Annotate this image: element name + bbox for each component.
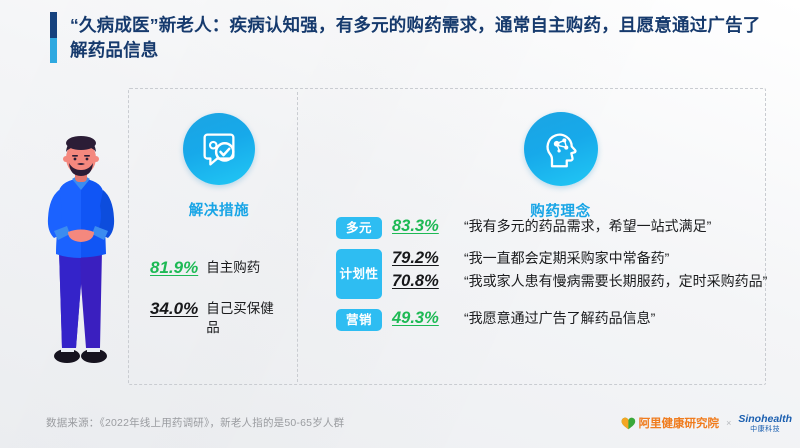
footer-logos: 阿里健康研究院 × Sinohealth 中康科技 xyxy=(621,414,792,433)
left-stat-value: 34.0% xyxy=(150,299,198,318)
concept-quote: “我愿意通过广告了解药品信息” xyxy=(464,308,788,329)
standing-man-illustration xyxy=(32,132,128,367)
data-source-note: 数据来源：《2022年线上用药调研》，新老人指的是50-65岁人群 xyxy=(46,415,344,430)
left-panel-label: 解决措施 xyxy=(174,199,264,220)
concept-value: 70.8% xyxy=(392,271,458,292)
right-rows-list: 多元 83.3% “我有多元的药品需求，希望一站式满足” 计划性 79.2% “… xyxy=(336,216,788,340)
concept-quote: “我或家人患有慢病需要长期服药，定时采购药品” xyxy=(464,271,788,292)
alihealth-logo: 阿里健康研究院 xyxy=(621,415,720,431)
slide-root: “久病成医”新老人：疾病认知强，有多元的购药需求，通常自主购药，且愿意通过广告了… xyxy=(0,0,800,448)
concept-row: 计划性 79.2% “我一直都会定期采购家中常备药” 70.8% “我或家人患有… xyxy=(336,248,788,299)
concept-quote: “我一直都会定期采购家中常备药” xyxy=(464,248,788,269)
concept-value: 79.2% xyxy=(392,248,458,269)
concept-tag: 多元 xyxy=(336,217,382,239)
left-stat-row: 34.0% 自己买保健品 xyxy=(150,299,300,337)
heart-check-icon xyxy=(621,417,636,430)
left-stat-label: 自主购药 xyxy=(206,258,278,277)
concept-line: 79.2% “我一直都会定期采购家中常备药” xyxy=(392,248,788,269)
concept-value: 83.3% xyxy=(392,216,458,237)
left-stat-value: 81.9% xyxy=(150,258,198,277)
right-panel-header: 购药理念 xyxy=(508,112,613,221)
concept-value: 49.3% xyxy=(392,308,458,329)
left-stat-label: 自己买保健品 xyxy=(206,299,278,337)
concept-line: 49.3% “我愿意通过广告了解药品信息” xyxy=(392,308,788,329)
concept-tag: 计划性 xyxy=(336,249,382,299)
left-panel-header: 解决措施 xyxy=(174,113,264,220)
page-title: “久病成医”新老人：疾病认知强，有多元的购药需求，通常自主购药，且愿意通过广告了… xyxy=(50,12,770,63)
title-text: “久病成医”新老人：疾病认知强，有多元的购药需求，通常自主购药，且愿意通过广告了… xyxy=(70,12,770,63)
concept-row: 营销 49.3% “我愿意通过广告了解药品信息” xyxy=(336,308,788,331)
left-stats-list: 81.9% 自主购药 34.0% 自己买保健品 xyxy=(150,258,300,359)
concept-row: 多元 83.3% “我有多元的药品需求，希望一站式满足” xyxy=(336,216,788,239)
sinohealth-logo-cn: 中康科技 xyxy=(750,426,780,433)
head-brain-network-icon xyxy=(524,112,598,186)
sinohealth-logo-en: Sinohealth xyxy=(738,414,792,425)
concept-line: 83.3% “我有多元的药品需求，希望一站式满足” xyxy=(392,216,788,237)
logo-separator: × xyxy=(726,418,731,428)
sinohealth-logo: Sinohealth 中康科技 xyxy=(738,414,792,433)
left-stat-row: 81.9% 自主购药 xyxy=(150,258,300,277)
speech-bubble-check-icon xyxy=(183,113,255,185)
concept-tag: 营销 xyxy=(336,309,382,331)
title-accent-bar xyxy=(50,12,57,63)
concept-quote: “我有多元的药品需求，希望一站式满足” xyxy=(464,216,788,237)
alihealth-logo-text: 阿里健康研究院 xyxy=(639,415,720,431)
concept-line: 70.8% “我或家人患有慢病需要长期服药，定时采购药品” xyxy=(392,271,788,292)
